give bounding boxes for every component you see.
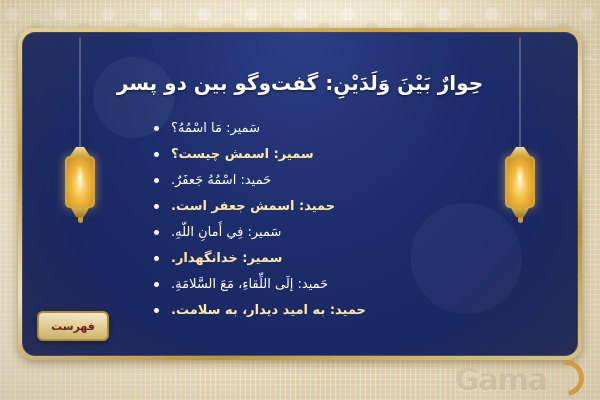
list-item: حَمید: إلَى اللِّقاءِ، مَعَ السَّلامَةِ. bbox=[143, 271, 485, 297]
index-button[interactable]: فهرست bbox=[37, 311, 109, 341]
list-item: حمید: اسمش جعفر است. bbox=[143, 193, 485, 219]
list-item-label: حمید: به امید دیدار، به سلامت. bbox=[169, 303, 485, 318]
page-title: حِوارٌ بَيْنَ وَلَدَيْنِ: گفت‌وگو بین دو… bbox=[23, 71, 577, 95]
list-item-label: سَمير: مَا اسْمُهُ؟ bbox=[169, 121, 485, 136]
list-item: حمید: به امید دیدار، به سلامت. bbox=[143, 297, 485, 323]
watermark-label: Gama bbox=[455, 366, 547, 396]
dialogue-list: سَمير: مَا اسْمُهُ؟ سمیر: اسمش چیست؟ حَم… bbox=[143, 115, 485, 323]
bullet-icon bbox=[143, 152, 169, 157]
list-item: حَمید: اسْمُهُ جَعفَرٌ. bbox=[143, 167, 485, 193]
bullet-icon bbox=[143, 256, 169, 261]
watermark: Gama bbox=[455, 360, 584, 396]
list-item: سمیر: اسمش چیست؟ bbox=[143, 141, 485, 167]
page-background: حِوارٌ بَيْنَ وَلَدَيْنِ: گفت‌وگو بین دو… bbox=[0, 0, 600, 400]
list-item-label: سَمير: فِي أَمانِ اللّهِ. bbox=[169, 225, 485, 240]
list-item: سمیر: خدانگهدار. bbox=[143, 245, 485, 271]
list-item: سَمير: مَا اسْمُهُ؟ bbox=[143, 115, 485, 141]
bullet-icon bbox=[143, 204, 169, 209]
bullet-icon bbox=[143, 282, 169, 287]
bullet-icon bbox=[143, 230, 169, 235]
list-item-label: حَمید: اسْمُهُ جَعفَرٌ. bbox=[169, 173, 485, 188]
bullet-icon bbox=[143, 178, 169, 183]
slide-gold-frame: حِوارٌ بَيْنَ وَلَدَيْنِ: گفت‌وگو بین دو… bbox=[18, 28, 582, 360]
list-item-label: حَمید: إلَى اللِّقاءِ، مَعَ السَّلامَةِ. bbox=[169, 277, 485, 292]
list-item-label: سمیر: خدانگهدار. bbox=[169, 251, 485, 266]
list-item: سَمير: فِي أَمانِ اللّهِ. bbox=[143, 219, 485, 245]
swirl-icon bbox=[541, 353, 591, 400]
bullet-icon bbox=[143, 308, 169, 313]
slide-content: حِوارٌ بَيْنَ وَلَدَيْنِ: گفت‌وگو بین دو… bbox=[22, 32, 578, 356]
bullet-icon bbox=[143, 126, 169, 131]
list-item-label: حمید: اسمش جعفر است. bbox=[169, 199, 485, 214]
list-item-label: سمیر: اسمش چیست؟ bbox=[169, 147, 485, 162]
